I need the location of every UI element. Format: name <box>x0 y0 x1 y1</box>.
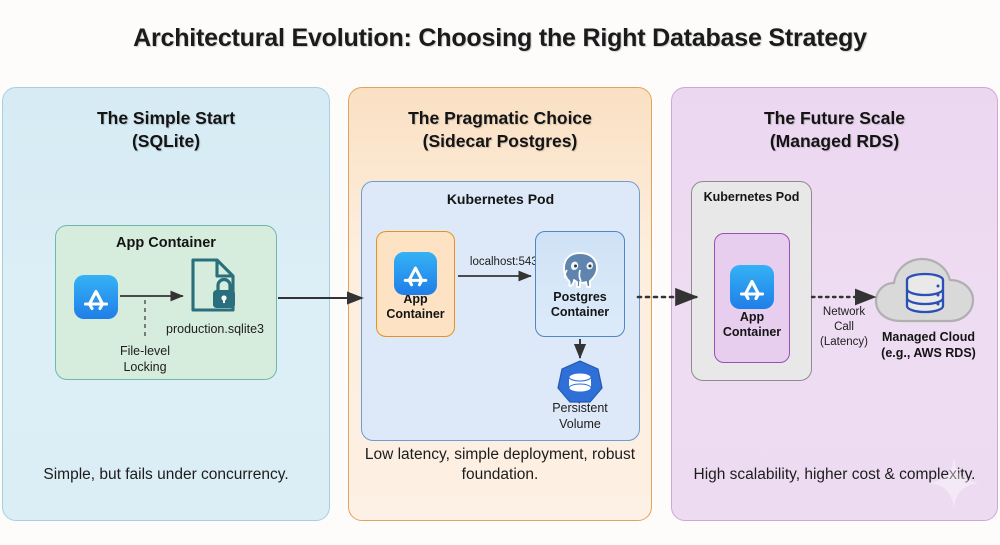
sparkle-watermark-icon <box>927 456 981 510</box>
kubernetes-pod-label: Kubernetes Pod <box>362 191 639 207</box>
appstore-icon <box>74 275 118 319</box>
app-container-label: App Container <box>56 235 276 251</box>
postgres-container-label-line2: Container <box>551 305 609 319</box>
panel-title-line2: (Sidecar Postgres) <box>423 131 578 151</box>
panel-caption-pragmatic-choice: Low latency, simple deployment, robust f… <box>359 445 641 486</box>
locked-file-icon <box>188 254 238 316</box>
panel-title-line2: (Managed RDS) <box>770 131 899 151</box>
panel-title-line1: The Simple Start <box>97 108 235 128</box>
managed-cloud-label: Managed Cloud (e.g., AWS RDS) <box>861 330 996 361</box>
persistent-volume-label: Persistent Volume <box>518 401 642 432</box>
managed-cloud-line2: (e.g., AWS RDS) <box>881 346 976 360</box>
persistent-volume-icon <box>555 359 605 405</box>
app-container-label-line2: Container <box>723 325 781 339</box>
file-locking-note: File-level Locking <box>85 344 205 375</box>
panel-title-line1: The Pragmatic Choice <box>408 108 592 128</box>
network-call-line2: Call <box>834 321 854 333</box>
app-container-label: App Container <box>715 310 789 341</box>
page-title: Architectural Evolution: Choosing the Ri… <box>0 24 1000 53</box>
managed-cloud-line1: Managed Cloud <box>882 330 975 344</box>
panel-title-simple-start: The Simple Start (SQLite) <box>3 107 329 153</box>
file-locking-line1: File-level <box>120 344 170 358</box>
appstore-icon <box>394 252 437 295</box>
sqlite-file-label: production.sqlite3 <box>140 322 290 336</box>
panel-caption-simple-start: Simple, but fails under concurrency. <box>13 465 319 486</box>
panel-title-pragmatic-choice: The Pragmatic Choice (Sidecar Postgres) <box>349 107 651 153</box>
postgres-elephant-icon <box>557 250 603 294</box>
file-locking-line2: Locking <box>123 360 166 374</box>
panel-title-line1: The Future Scale <box>764 108 905 128</box>
app-container-label: App Container <box>377 292 454 323</box>
cloud-database-icon <box>873 255 983 330</box>
diagram-canvas: Architectural Evolution: Choosing the Ri… <box>0 0 1000 545</box>
postgres-container-label: Postgres Container <box>536 290 624 321</box>
appstore-icon <box>730 265 774 309</box>
persistent-volume-label-line2: Volume <box>559 417 601 431</box>
app-container-label-line1: App <box>740 310 764 324</box>
persistent-volume-label-line1: Persistent <box>552 401 608 415</box>
network-call-line1: Network <box>823 306 865 318</box>
panel-title-line2: (SQLite) <box>132 131 200 151</box>
kubernetes-pod-label: Kubernetes Pod <box>692 190 811 204</box>
panel-title-future-scale: The Future Scale (Managed RDS) <box>672 107 997 153</box>
app-container-label-line2: Container <box>386 307 444 321</box>
